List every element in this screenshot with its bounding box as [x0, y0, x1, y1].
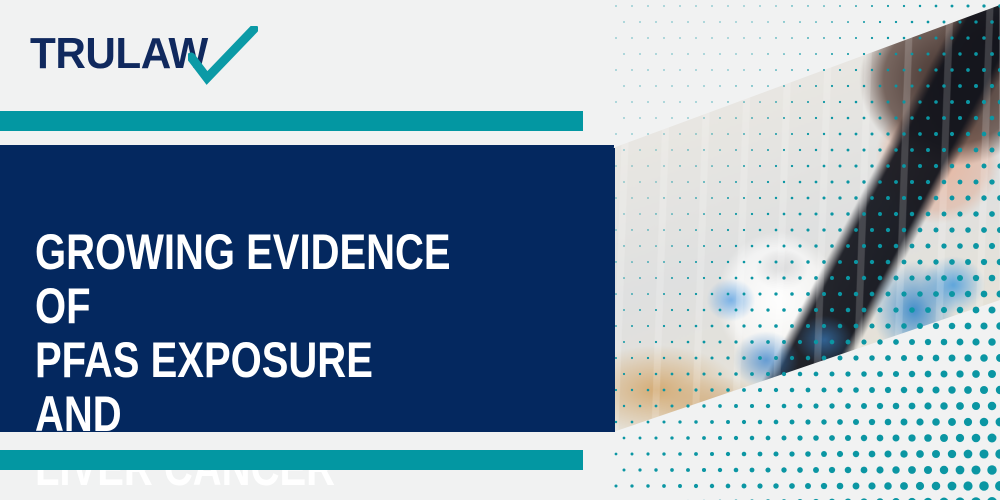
photo-glassware-overlay [610, 0, 1000, 500]
teal-accent-bar-bottom [0, 450, 583, 470]
teal-accent-bar-top [0, 111, 583, 131]
trulaw-article-banner: TRULAW GROWING EVIDENCE OF PFAS EXPOSURE… [0, 0, 1000, 500]
photo-left-navy-edge [610, 148, 615, 432]
headline-block: GROWING EVIDENCE OF PFAS EXPOSURE AND LI… [0, 145, 614, 432]
logo-wordmark: TRULAW [30, 30, 208, 78]
teal-checkmark-icon [188, 26, 258, 86]
trulaw-logo[interactable]: TRULAW [30, 26, 250, 86]
laboratory-microscope-photo [610, 0, 1000, 500]
